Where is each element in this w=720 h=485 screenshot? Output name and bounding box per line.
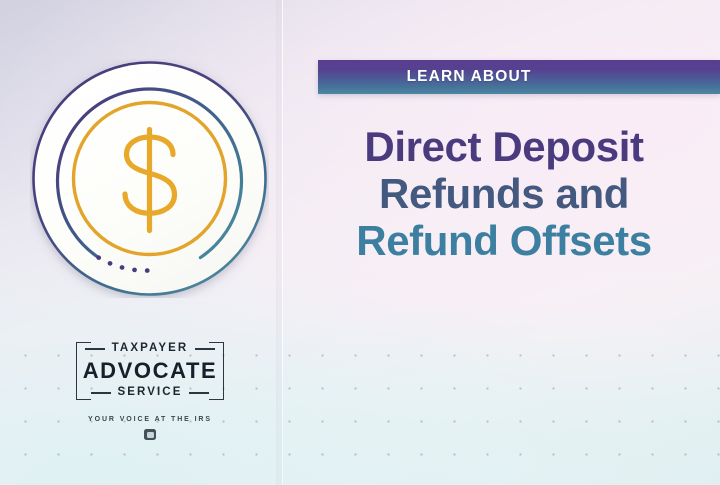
wordmark-row-service: SERVICE	[58, 385, 242, 401]
wordmark-line-advocate: ADVOCATE	[58, 360, 242, 382]
wordmark-tagline: YOUR VOICE AT THE IRS	[58, 416, 242, 423]
wordmark-rule-right	[195, 348, 215, 350]
wordmark-row-taxpayer: TAXPAYER	[58, 341, 242, 357]
wordmark-line-taxpayer: TAXPAYER	[112, 343, 189, 355]
eyebrow-banner: LEARN ABOUT	[318, 60, 720, 94]
wordmark-rule-left	[85, 348, 105, 350]
page-title: Direct Deposit Refunds and Refund Offset…	[300, 124, 708, 264]
title-card-canvas: TAXPAYER ADVOCATE SERVICE YOUR VOICE AT …	[0, 0, 720, 485]
wordmark-line-service: SERVICE	[118, 387, 183, 399]
dollar-coin-icon	[30, 59, 269, 298]
eyebrow-label: LEARN ABOUT	[407, 69, 532, 85]
irs-badge-icon	[144, 429, 156, 440]
taxpayer-advocate-service-wordmark: TAXPAYER ADVOCATE SERVICE YOUR VOICE AT …	[58, 336, 242, 440]
headline-line-2: Refunds and	[300, 171, 708, 218]
panel-divider	[282, 0, 283, 485]
headline-line-1: Direct Deposit	[300, 124, 708, 171]
wordmark-rule-right-2	[189, 392, 209, 394]
wordmark-rule-left-2	[91, 392, 111, 394]
headline-line-3: Refund Offsets	[300, 218, 708, 265]
wordmark-frame: TAXPAYER ADVOCATE SERVICE	[58, 336, 242, 405]
